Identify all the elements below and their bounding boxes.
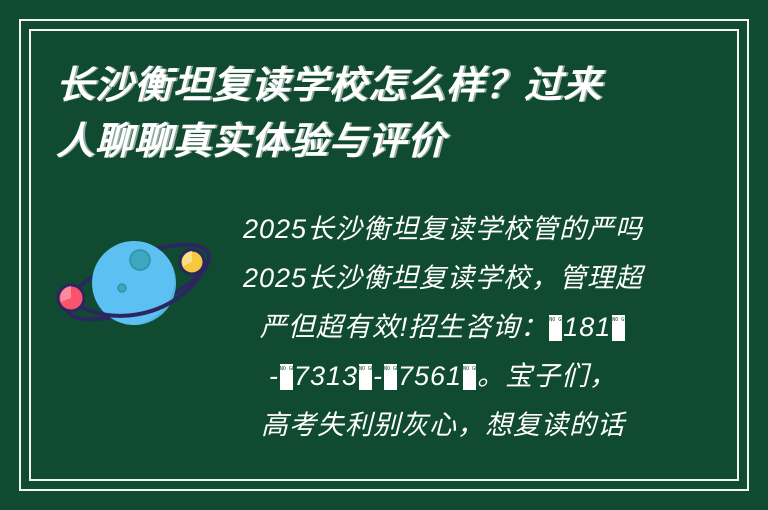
poster-canvas: 长沙衡坦复读学校怎么样？过来 人聊聊真实体验与评价 [0,0,768,510]
missing-glyph-box: NO GLYPH [280,364,293,390]
phone-part-1: 181 [563,312,611,342]
body-text-line-3-text: 严但超有效!招生咨询： [260,312,549,342]
moon-pink-icon [58,285,84,311]
page-title-line-2: 人聊聊真实体验与评价 [56,114,656,170]
body-text-line-5: 高考失利别灰心，想复读的话 [228,401,658,450]
planet-illustration [52,222,224,344]
phone-part-3: 7561 [398,361,462,391]
phone-dash-2: - [373,361,383,391]
missing-glyph-box: NO GLYPH [463,364,476,390]
page-title-line-1: 长沙衡坦复读学校怎么样？过来 [56,58,656,114]
body-text-line-1: 2025长沙衡坦复读学校管的严吗 [228,205,658,254]
planet-crater-small-icon [118,284,126,292]
planet-crater-large-icon [130,250,150,270]
phone-part-2: 7313 [294,361,358,391]
missing-glyph-box: NO GLYPH [359,364,372,390]
body-text: 2025长沙衡坦复读学校管的严吗 2025长沙衡坦复读学校，管理超 严但超有效!… [228,205,658,450]
page-title: 长沙衡坦复读学校怎么样？过来 人聊聊真实体验与评价 [56,58,656,170]
missing-glyph-box: NO GLYPH [549,315,562,341]
moon-yellow-icon [180,250,204,274]
phone-dash-1: - [269,361,279,391]
missing-glyph-box: NO GLYPH [384,364,397,390]
body-text-line-4-tail: 。宝子们， [477,361,617,391]
missing-glyph-box: NO GLYPH [612,315,625,341]
body-text-line-4: -NO GLYPH7313NO GLYPH-NO GLYPH7561NO GLY… [228,352,658,401]
body-text-line-3: 严但超有效!招生咨询：NO GLYPH181NO GLYPH [228,303,658,352]
body-text-line-2: 2025长沙衡坦复读学校，管理超 [228,254,658,303]
